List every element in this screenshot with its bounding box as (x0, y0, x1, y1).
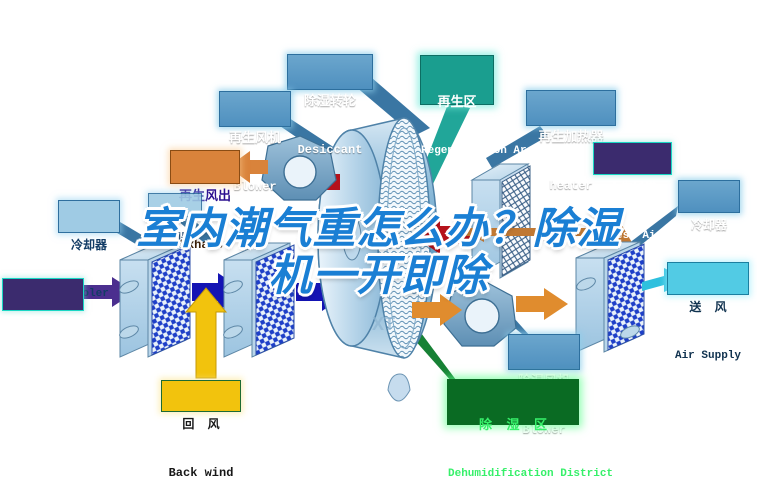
label-dehumidification-district-en: Dehumidification District (448, 468, 578, 480)
diagram-canvas: XT (0, 0, 757, 488)
label-cooler-mid-cn: 冷却器 (149, 232, 201, 245)
label-regeneration-area-en: Regenerati on Area (421, 145, 493, 157)
label-cooler-right[interactable]: 冷却器 Cooler (678, 180, 740, 213)
label-regeneration-area-cn: 再生区 (421, 95, 493, 110)
label-fresh-air[interactable]: 新 风 Fresh Air (2, 278, 84, 311)
label-regeneration-heater[interactable]: 再生加热器 heater (526, 90, 616, 126)
label-air-supply[interactable]: 送 风 Air Supply (667, 262, 749, 295)
svg-text:XT: XT (372, 314, 395, 334)
label-regeneration-blower[interactable]: 再生风机 Blower (219, 91, 291, 127)
label-desiccant-wheel-en: Desiccant (288, 144, 372, 157)
label-desiccant-wheel-cn: 除湿转轮 (288, 94, 372, 109)
label-air-supply-en: Air Supply (668, 350, 748, 362)
label-back-wind[interactable]: 回 风 Back wind (161, 380, 241, 412)
label-regeneration-fresh-air[interactable]: 再生风进 Fresh Air (593, 142, 672, 175)
label-cooler-left[interactable]: 冷却器 Cooler (58, 200, 120, 233)
label-cooler-right-cn: 冷却器 (679, 219, 739, 232)
label-regeneration-blower-cn: 再生风机 (220, 131, 290, 146)
label-dehumidification-district-cn: 除 湿 区 (448, 418, 578, 433)
label-fresh-air-cn: 新 风 (3, 317, 83, 330)
arrow-dehum-2 (516, 288, 568, 320)
label-dehumidification-district[interactable]: 除 湿 区 Dehumidification District (447, 379, 579, 425)
label-back-wind-en: Back wind (162, 467, 240, 480)
label-cooler-left-cn: 冷却器 (59, 239, 119, 252)
label-desiccant-wheel[interactable]: 除湿转轮 Desiccant (287, 54, 373, 90)
label-back-wind-cn: 回 风 (162, 418, 240, 431)
label-regeneration-fresh-air-en: Fresh Air (594, 230, 671, 242)
label-cooler-mid[interactable]: 冷却器 (148, 193, 202, 217)
label-regeneration-area[interactable]: 再生区 Regenerati on Area (420, 55, 494, 105)
label-exhaust[interactable]: 再生风出 Exhaust (170, 150, 240, 184)
label-regeneration-fresh-air-cn: 再生风进 (594, 181, 671, 194)
label-dehumidification-blower[interactable]: 除湿风机 Blower (508, 334, 580, 370)
label-fresh-air-en: Fresh Air (3, 366, 83, 378)
label-air-supply-cn: 送 风 (668, 301, 748, 314)
